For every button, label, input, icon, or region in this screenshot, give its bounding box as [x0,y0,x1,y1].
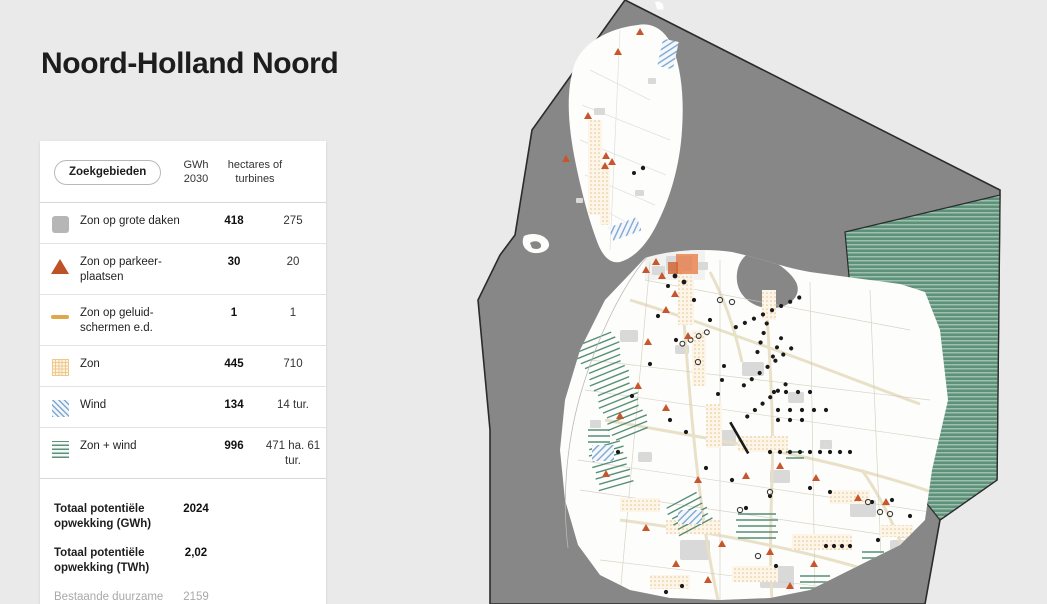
legend-table-card: Zoekgebieden GWh 2030 hectares of turbin… [40,141,326,604]
row-hectares: 275 [260,214,326,229]
row-label: Zon [80,357,208,372]
total-label: Bestaande duurzame opwekking (GWh) [40,590,170,604]
row-gwh: 30 [208,255,260,270]
legend-table-header: Zoekgebieden GWh 2030 hectares of turbin… [40,141,326,203]
row-label: Zon + wind [80,439,208,454]
row-gwh: 1 [208,306,260,321]
total-value: 2024 [170,502,222,517]
total-row-gwh: Totaal potentiële opwekking (GWh) 2024 [40,495,326,539]
noord-holland-noord-map[interactable] [470,0,1047,604]
row-hectares: 20 [260,255,326,270]
total-row-existing: Bestaande duurzame opwekking (GWh) 2159 [40,583,326,604]
solar-area [588,120,602,215]
total-value: 2159 [170,590,222,604]
column-header-gwh: GWh 2030 [170,159,222,186]
total-row-twh: Totaal potentiële opwekking (TWh) 2,02 [40,539,326,583]
total-label: Totaal potentiële opwekking (TWh) [40,546,170,576]
orange-triangle-icon [40,255,80,274]
total-label: Totaal potentiële opwekking (GWh) [40,502,170,532]
total-value: 2,02 [170,546,222,561]
zoekgebieden-pill-wrap: Zoekgebieden [40,160,170,185]
orange-dash-icon [40,306,80,319]
green-lines-icon [40,439,80,458]
table-row[interactable]: Zon op parkeer- plaatsen 30 20 [40,244,326,295]
row-gwh: 418 [208,214,260,229]
table-row[interactable]: Zon op geluid- schermen e.d. 1 1 [40,295,326,346]
row-hectares: 14 tur. [260,398,326,413]
row-hectares: 1 [260,306,326,321]
column-header-hectares: hectares of turbines [222,159,288,186]
legend-rows: Zon op grote daken 418 275 Zon op parkee… [40,203,326,478]
zoekgebieden-pill[interactable]: Zoekgebieden [54,160,161,185]
page-title: Noord-Holland Noord [41,47,338,81]
row-hectares: 710 [260,357,326,372]
solar-area [600,165,610,225]
row-label: Zon op grote daken [80,214,208,229]
totals-section: Totaal potentiële opwekking (GWh) 2024 T… [40,478,326,604]
table-row[interactable]: Wind 134 14 tur. [40,387,326,428]
blue-hatch-icon [40,398,80,417]
row-gwh: 134 [208,398,260,413]
table-row[interactable]: Zon + wind 996 471 ha. 61 tur. [40,428,326,478]
row-label: Wind [80,398,208,413]
orange-grid-icon [40,357,80,376]
row-label: Zon op geluid- schermen e.d. [80,306,208,335]
gray-square-icon [40,214,80,233]
row-label: Zon op parkeer- plaatsen [80,255,208,284]
table-row[interactable]: Zon 445 710 [40,346,326,387]
row-gwh: 996 [208,439,260,454]
mainland [560,250,948,600]
map-container[interactable] [470,0,1047,604]
row-hectares: 471 ha. 61 tur. [260,439,326,468]
row-gwh: 445 [208,357,260,372]
table-row[interactable]: Zon op grote daken 418 275 [40,203,326,244]
